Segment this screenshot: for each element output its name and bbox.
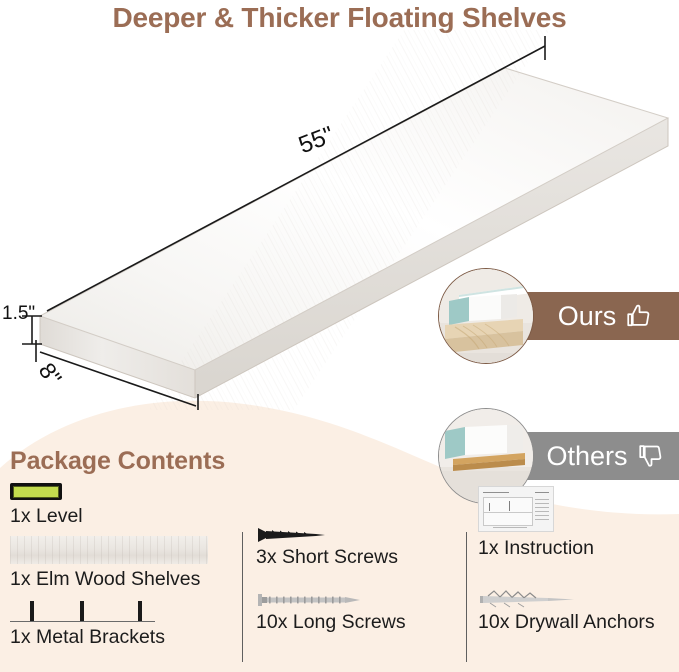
package-item-short-screws: 3x Short Screws	[256, 526, 406, 568]
dimension-thickness-label: 1.5"	[2, 303, 35, 325]
package-item-label: 1x Instruction	[478, 539, 594, 559]
package-item-level: 1x Level	[10, 483, 83, 527]
package-item-instruction: 1x Instruction	[478, 486, 594, 559]
wood-plank-icon	[10, 536, 208, 564]
level-tool-icon	[10, 483, 62, 500]
package-item-metal-brackets: 1x Metal Brackets	[10, 599, 165, 648]
package-item-label: 10x Drywall Anchors	[478, 613, 655, 633]
drywall-anchor-icon	[478, 589, 598, 609]
package-item-label: 10x Long Screws	[256, 613, 406, 633]
package-column-1: 1x Level 1x Elm Wood Shelves 1x Metal Br…	[10, 480, 238, 672]
instruction-sheet-icon	[478, 486, 554, 532]
column-divider-2	[466, 532, 467, 662]
package-column-2: 3x Short Screws	[248, 480, 466, 672]
long-screw-icon	[256, 591, 406, 609]
package-item-long-screws: 10x Long Screws	[256, 591, 406, 633]
ours-photo	[438, 268, 534, 364]
thumbs-down-icon	[636, 441, 666, 471]
column-divider-1	[242, 532, 243, 662]
package-item-label: 1x Elm Wood Shelves	[10, 570, 208, 590]
package-contents-heading: Package Contents	[10, 447, 225, 476]
ours-label: Ours	[558, 303, 617, 330]
infographic-canvas: Deeper & Thicker Floating Shelves	[0, 0, 679, 672]
thumbs-up-icon	[624, 301, 654, 331]
package-item-drywall-anchors: 10x Drywall Anchors	[478, 589, 655, 633]
package-item-label: 1x Metal Brackets	[10, 628, 165, 648]
package-contents-grid: 1x Level 1x Elm Wood Shelves 1x Metal Br…	[0, 480, 679, 672]
package-item-label: 1x Level	[10, 507, 83, 527]
short-screw-icon	[256, 526, 406, 544]
others-label: Others	[546, 443, 627, 470]
comparison-card-ours: Ours	[430, 268, 679, 364]
package-column-3: 1x Instruction	[472, 480, 672, 672]
metal-bracket-icon	[10, 599, 155, 622]
package-item-elm-wood-shelves: 1x Elm Wood Shelves	[10, 536, 208, 590]
package-item-label: 3x Short Screws	[256, 548, 406, 568]
